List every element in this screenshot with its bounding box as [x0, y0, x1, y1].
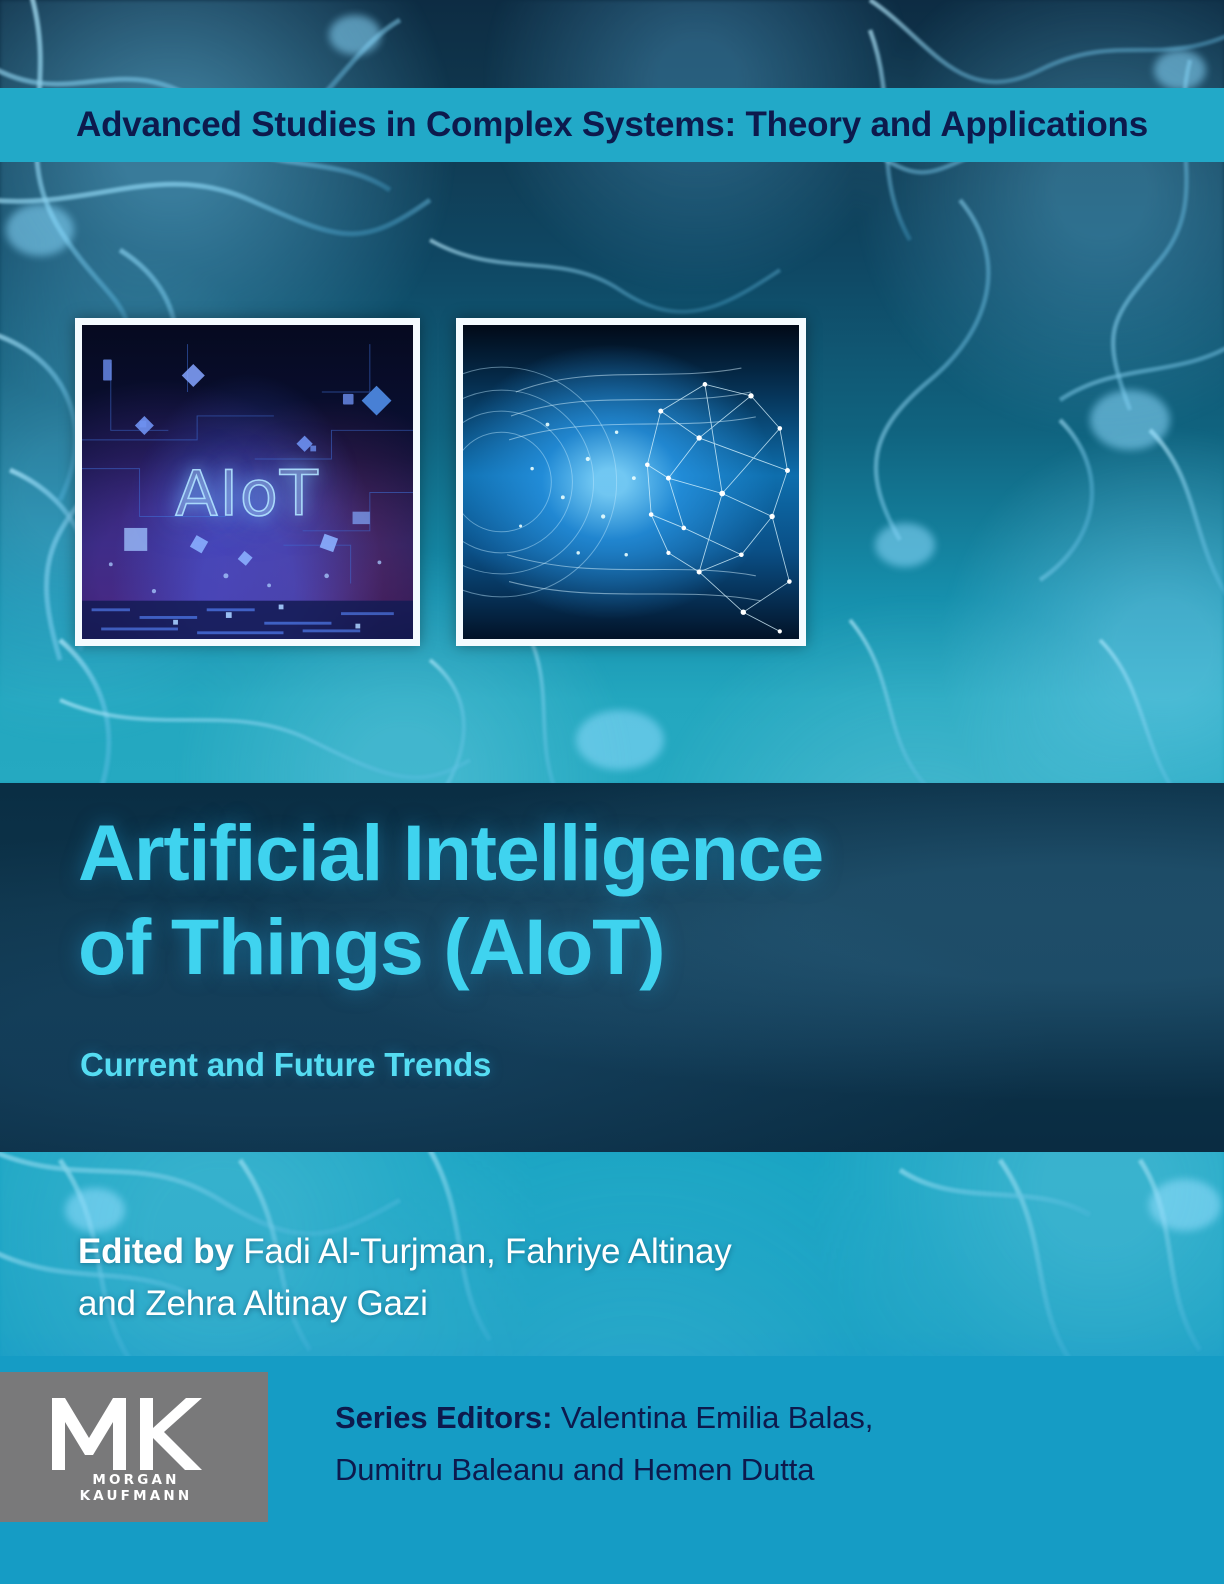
aiot-word-label: AIoT	[82, 457, 413, 530]
edited-by-label: Edited by	[78, 1232, 234, 1271]
editors-block: Edited by Fadi Al-Turjman, Fahriye Altin…	[78, 1226, 978, 1330]
title-line-2: of Things (AIoT)	[78, 900, 1058, 994]
series-banner-label: Advanced Studies in Complex Systems: The…	[0, 88, 1224, 162]
editors-names-1: Fadi Al-Turjman, Fahriye Altinay	[234, 1232, 732, 1271]
network-scene	[463, 325, 799, 639]
publisher-name: MORGAN KAUFMANN	[52, 1472, 220, 1504]
series-editors-line-2: Dumitru Baleanu and Hemen Dutta	[335, 1444, 1095, 1496]
aiot-tech-image: AIoT	[75, 318, 420, 646]
editors-line-1: Edited by Fadi Al-Turjman, Fahriye Altin…	[78, 1226, 978, 1278]
mk-logo-icon	[52, 1398, 202, 1470]
title-line-1: Artificial Intelligence	[78, 806, 1058, 900]
blue-neural-network-image	[456, 318, 806, 646]
page-title: Artificial Intelligence of Things (AIoT)	[78, 806, 1058, 994]
editors-line-2: and Zehra Altinay Gazi	[78, 1278, 978, 1330]
series-editors-line-1: Series Editors: Valentina Emilia Balas,	[335, 1392, 1095, 1444]
aiot-scene: AIoT	[82, 325, 413, 639]
series-editors-names-1: Valentina Emilia Balas,	[552, 1400, 873, 1435]
book-subtitle: Current and Future Trends	[80, 1046, 491, 1084]
series-editors-label: Series Editors:	[335, 1400, 552, 1435]
series-editors-block: Series Editors: Valentina Emilia Balas, …	[335, 1392, 1095, 1496]
book-cover: Advanced Studies in Complex Systems: The…	[0, 0, 1224, 1584]
